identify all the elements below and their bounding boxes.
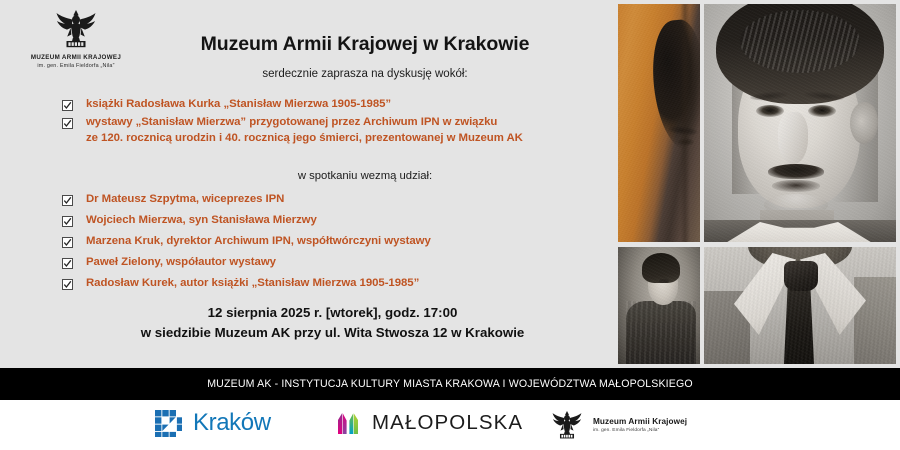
content-panel: MUZEUM ARMII KRAJOWEJ im. gen. Emila Fie… xyxy=(0,0,615,368)
participants-list: Dr Mateusz Szpytma, wiceprezes IPN Wojci… xyxy=(62,192,607,297)
krakow-squares-logo-icon xyxy=(155,410,182,437)
participant-name: Radosław Kurek, autor książki „Stanisław… xyxy=(86,276,419,292)
museum-footer-line-1: Muzeum Armii Krajowej xyxy=(593,417,687,426)
malopolska-zigzag-logo-icon xyxy=(337,411,362,435)
participants-intro: w spotkaniu wezmą udział: xyxy=(130,170,600,182)
eagle-crest-icon xyxy=(53,6,99,52)
checked-box-icon xyxy=(62,100,73,111)
poster-root: MUZEUM ARMII KRAJOWEJ im. gen. Emila Fie… xyxy=(0,0,900,450)
list-item: Marzena Kruk, dyrektor Archiwum IPN, wsp… xyxy=(62,234,607,250)
museum-footer-logo: Muzeum Armii Krajowej im. gen. Emila Fie… xyxy=(550,408,687,442)
footer-logos: Kraków xyxy=(0,400,900,450)
topic-text-block: wystawy „Stanisław Mierzwa” przygotowane… xyxy=(86,115,523,146)
topic-text-continuation: ze 120. rocznicą urodzin i 40. rocznicą … xyxy=(86,131,523,147)
krakow-logo: Kraków xyxy=(155,409,271,437)
event-date: 12 sierpnia 2025 r. [wtorek], godz. 17:0… xyxy=(60,303,605,323)
event-venue: w siedzibie Muzeum AK przy ul. Wita Stwo… xyxy=(60,323,605,343)
checked-box-icon xyxy=(62,237,73,248)
institution-banner: MUZEUM AK - INSTYTUCJA KULTURY MIASTA KR… xyxy=(0,368,900,400)
list-item: Dr Mateusz Szpytma, wiceprezes IPN xyxy=(62,192,607,208)
malopolska-logo: MAŁOPOLSKA xyxy=(337,411,523,435)
page-title: Muzeum Armii Krajowej w Krakowie xyxy=(130,33,600,56)
young-portrait-thumb xyxy=(618,247,700,364)
topic-text: wystawy „Stanisław Mierzwa” przygotowane… xyxy=(86,116,497,128)
event-details: 12 sierpnia 2025 r. [wtorek], godz. 17:0… xyxy=(60,303,605,342)
checked-box-icon xyxy=(62,216,73,227)
malopolska-logo-label: MAŁOPOLSKA xyxy=(372,411,523,435)
museum-crest: MUZEUM ARMII KRAJOWEJ im. gen. Emila Fie… xyxy=(22,6,130,69)
topics-list: książki Radosława Kurka „Stanisław Mierz… xyxy=(62,97,607,149)
banner-text: MUZEUM AK - INSTYTUCJA KULTURY MIASTA KR… xyxy=(207,378,693,390)
suit-detail-thumb xyxy=(704,247,896,364)
list-item: Paweł Zielony, współautor wystawy xyxy=(62,255,607,271)
checked-box-icon xyxy=(62,258,73,269)
museum-footer-text: Muzeum Armii Krajowej im. gen. Emila Fie… xyxy=(593,417,687,433)
eagle-crest-icon xyxy=(550,408,584,442)
sepia-portrait-thumb xyxy=(618,4,700,242)
main-portrait xyxy=(704,4,896,242)
list-item: książki Radosława Kurka „Stanisław Mierz… xyxy=(62,97,607,113)
participant-name: Paweł Zielony, współautor wystawy xyxy=(86,255,276,271)
participant-name: Marzena Kruk, dyrektor Archiwum IPN, wsp… xyxy=(86,234,431,250)
photo-mosaic xyxy=(618,4,896,364)
checked-box-icon xyxy=(62,195,73,206)
museum-footer-line-2: im. gen. Emila Fieldorfa „Nila” xyxy=(593,428,687,433)
page-subtitle: serdecznie zaprasza na dyskusję wokół: xyxy=(130,68,600,80)
list-item: Radosław Kurek, autor książki „Stanisław… xyxy=(62,276,607,292)
crest-line-1: MUZEUM ARMII KRAJOWEJ xyxy=(22,54,130,61)
checked-box-icon xyxy=(62,118,73,129)
checked-box-icon xyxy=(62,279,73,290)
participant-name: Dr Mateusz Szpytma, wiceprezes IPN xyxy=(86,192,284,208)
list-item: Wojciech Mierzwa, syn Stanisława Mierzwy xyxy=(62,213,607,229)
list-item: wystawy „Stanisław Mierzwa” przygotowane… xyxy=(62,115,607,146)
krakow-logo-label: Kraków xyxy=(193,409,271,437)
crest-line-2: im. gen. Emila Fieldorfa „Nila” xyxy=(22,63,130,69)
topic-text: książki Radosława Kurka „Stanisław Mierz… xyxy=(86,97,391,113)
participant-name: Wojciech Mierzwa, syn Stanisława Mierzwy xyxy=(86,213,317,229)
